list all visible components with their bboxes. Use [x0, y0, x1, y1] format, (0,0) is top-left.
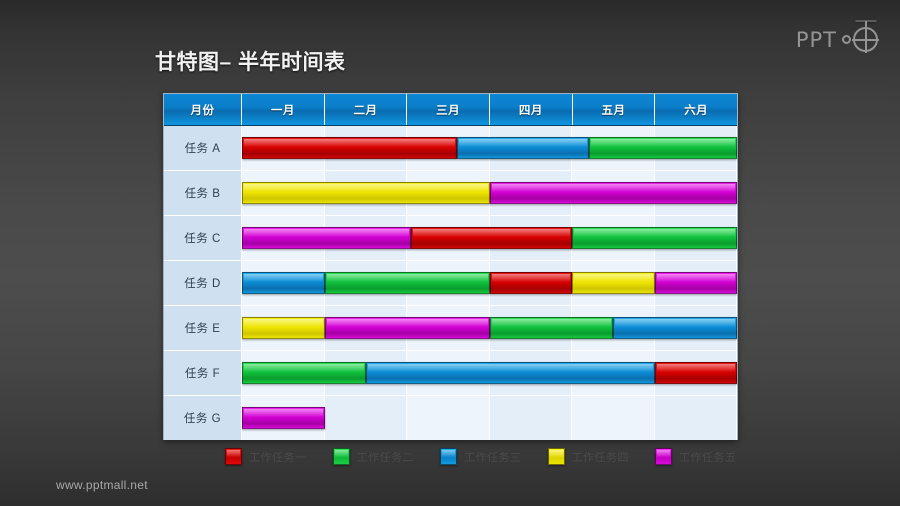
gantt-bar-blue[interactable]	[457, 137, 589, 159]
gantt-bar-magenta[interactable]	[242, 407, 325, 429]
gantt-row-track	[242, 216, 737, 260]
legend-item[interactable]: 工作任务五	[655, 448, 737, 465]
gantt-row-track	[242, 306, 737, 350]
gantt-chart: 月份 一月 二月 三月 四月 五月 六月 任务 A任务 B任务 C任务 D任务 …	[163, 93, 738, 440]
gantt-bar-green[interactable]	[572, 227, 737, 249]
gantt-bar-green[interactable]	[325, 272, 490, 294]
gantt-bar-layer	[242, 351, 737, 395]
legend-swatch-yellow	[548, 448, 565, 465]
table-row: 任务 B	[164, 171, 737, 216]
gantt-bar-yellow[interactable]	[242, 317, 325, 339]
logo-wordmark: PPT	[796, 28, 837, 52]
legend-swatch-magenta	[655, 448, 672, 465]
row-label-task: 任务 E	[164, 306, 242, 350]
legend-swatch-blue	[440, 448, 457, 465]
row-label-task: 任务 C	[164, 216, 242, 260]
table-header-month-4: 四月	[490, 94, 573, 125]
globe-top-bar-icon	[855, 20, 876, 22]
globe-icon	[853, 27, 878, 52]
gantt-bar-red[interactable]	[490, 272, 573, 294]
gantt-row-track	[242, 351, 737, 395]
gantt-bar-layer	[242, 171, 737, 215]
legend-label: 工作任务三	[464, 449, 522, 465]
page-title: 甘特图– 半年时间表	[155, 46, 346, 76]
legend-swatch-red	[225, 448, 242, 465]
circle-icon	[842, 35, 851, 44]
gantt-row-track	[242, 261, 737, 305]
brand-logo: PPT	[796, 27, 878, 52]
gantt-bar-green[interactable]	[490, 317, 614, 339]
table-row: 任务 G	[164, 396, 737, 440]
table-header-month-6: 六月	[655, 94, 737, 125]
table-row: 任务 C	[164, 216, 737, 261]
gantt-bar-magenta[interactable]	[325, 317, 490, 339]
table-header-month-2: 二月	[325, 94, 408, 125]
gantt-bar-yellow[interactable]	[242, 182, 490, 204]
gantt-bar-blue[interactable]	[613, 317, 737, 339]
table-header-month: 月份	[164, 94, 242, 125]
row-label-task: 任务 F	[164, 351, 242, 395]
gantt-bar-layer	[242, 306, 737, 350]
footer-url: www.pptmall.net	[56, 478, 148, 492]
gantt-bar-magenta[interactable]	[655, 272, 738, 294]
legend-item[interactable]: 工作任务三	[440, 448, 522, 465]
legend-item[interactable]: 工作任务二	[333, 448, 415, 465]
legend-label: 工作任务四	[572, 449, 630, 465]
legend-swatch-green	[333, 448, 350, 465]
gantt-bar-yellow[interactable]	[572, 272, 655, 294]
gantt-bar-magenta[interactable]	[242, 227, 411, 249]
gantt-bar-green[interactable]	[242, 362, 366, 384]
gantt-bar-blue[interactable]	[242, 272, 325, 294]
legend-label: 工作任务五	[679, 449, 737, 465]
gantt-body: 任务 A任务 B任务 C任务 D任务 E任务 F任务 G	[164, 126, 737, 440]
table-row: 任务 A	[164, 126, 737, 171]
chart-legend: 工作任务一工作任务二工作任务三工作任务四工作任务五	[163, 448, 738, 465]
table-row: 任务 D	[164, 261, 737, 306]
gantt-bar-red[interactable]	[411, 227, 572, 249]
row-label-task: 任务 D	[164, 261, 242, 305]
gantt-bar-layer	[242, 261, 737, 305]
legend-item[interactable]: 工作任务四	[548, 448, 630, 465]
gantt-row-track	[242, 126, 737, 170]
gantt-bar-red[interactable]	[242, 137, 457, 159]
gantt-bar-green[interactable]	[589, 137, 738, 159]
table-header-month-5: 五月	[573, 94, 656, 125]
legend-label: 工作任务一	[249, 449, 307, 465]
table-header-row: 月份 一月 二月 三月 四月 五月 六月	[164, 94, 737, 126]
gantt-row-track	[242, 171, 737, 215]
table-row: 任务 F	[164, 351, 737, 396]
gantt-bar-blue[interactable]	[366, 362, 655, 384]
row-label-task: 任务 B	[164, 171, 242, 215]
row-label-task: 任务 G	[164, 396, 242, 440]
gantt-bar-layer	[242, 126, 737, 170]
legend-item[interactable]: 工作任务一	[225, 448, 307, 465]
gantt-bar-layer	[242, 396, 737, 440]
gantt-bar-magenta[interactable]	[490, 182, 738, 204]
row-label-task: 任务 A	[164, 126, 242, 170]
table-header-month-1: 一月	[242, 94, 325, 125]
table-row: 任务 E	[164, 306, 737, 351]
table-header-month-3: 三月	[407, 94, 490, 125]
gantt-row-track	[242, 396, 737, 440]
gantt-bar-layer	[242, 216, 737, 260]
gantt-bar-red[interactable]	[655, 362, 738, 384]
legend-label: 工作任务二	[357, 449, 415, 465]
